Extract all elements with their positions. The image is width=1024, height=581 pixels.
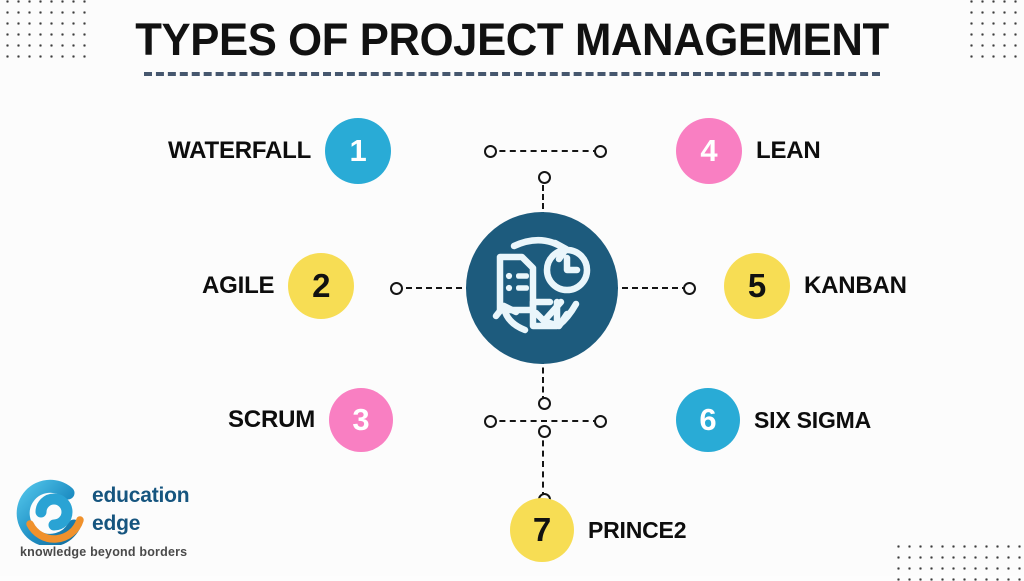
item-label-six-sigma: SIX SIGMA: [754, 407, 871, 434]
title-underline-divider: [144, 72, 880, 76]
logo-word-edge: edge: [92, 513, 189, 534]
connector-endpoint-top-vertical: [538, 171, 551, 184]
item-label-waterfall: WATERFALL: [168, 137, 311, 165]
title-block: TYPES OF PROJECT MANAGEMENT: [0, 16, 1024, 76]
connector-top-left: [489, 150, 599, 152]
item-number-6: 6: [699, 402, 716, 438]
connector-endpoint-bottom-lower-top: [538, 425, 551, 438]
education-edge-swirl-logo: [14, 479, 92, 545]
item-prince2[interactable]: 7 PRINCE2: [510, 498, 686, 562]
item-lean[interactable]: 4 LEAN: [676, 118, 821, 184]
item-waterfall[interactable]: WATERFALL 1: [168, 118, 391, 184]
logo-tagline: knowledge beyond borders: [20, 545, 187, 559]
item-badge-5[interactable]: 5: [724, 253, 790, 319]
connector-endpoint-top-left-inner: [594, 145, 607, 158]
connector-endpoint-top-left-outer: [484, 145, 497, 158]
dot-grid-decoration-bottom-right: [893, 541, 1024, 581]
item-number-2: 2: [312, 267, 330, 305]
item-number-4: 4: [700, 133, 717, 169]
item-number-3: 3: [352, 402, 369, 438]
connector-endpoint-right: [683, 282, 696, 295]
connector-bottom-horizontal: [489, 420, 599, 422]
item-label-lean: LEAN: [756, 137, 821, 165]
item-badge-2[interactable]: 2: [288, 253, 354, 319]
item-badge-1[interactable]: 1: [325, 118, 391, 184]
item-badge-6[interactable]: 6: [676, 388, 740, 452]
item-label-scrum: SCRUM: [228, 406, 315, 434]
item-number-1: 1: [349, 133, 366, 169]
item-badge-4[interactable]: 4: [676, 118, 742, 184]
item-kanban[interactable]: 5 KANBAN: [724, 253, 907, 319]
connector-bottom-vertical-upper: [542, 358, 544, 402]
connector-endpoint-left: [390, 282, 403, 295]
logo-wordmark: education edge: [92, 485, 189, 534]
page-title: TYPES OF PROJECT MANAGEMENT: [15, 16, 1008, 64]
connector-endpoint-bottom-left: [484, 415, 497, 428]
connector-endpoint-bottom-right: [594, 415, 607, 428]
central-hub-icon: [466, 212, 618, 364]
document-icon: [500, 257, 533, 310]
clock-icon: [547, 250, 587, 290]
item-six-sigma[interactable]: 6 SIX SIGMA: [676, 388, 871, 452]
infographic-canvas: TYPES OF PROJECT MANAGEMENT: [0, 0, 1024, 576]
item-badge-7[interactable]: 7: [510, 498, 574, 562]
logo-word-education: education: [92, 485, 189, 506]
connector-bottom-vertical-lower: [542, 430, 544, 498]
item-badge-3[interactable]: 3: [329, 388, 393, 452]
item-number-5: 5: [748, 267, 766, 305]
item-number-7: 7: [533, 511, 551, 549]
connector-endpoint-bottom-upper: [538, 397, 551, 410]
item-agile[interactable]: AGILE 2: [202, 253, 354, 319]
item-scrum[interactable]: SCRUM 3: [228, 388, 393, 452]
item-label-agile: AGILE: [202, 272, 274, 300]
education-edge-logo: education edge knowledge beyond borders: [14, 479, 214, 567]
item-label-kanban: KANBAN: [804, 272, 907, 300]
item-label-prince2: PRINCE2: [588, 517, 686, 544]
